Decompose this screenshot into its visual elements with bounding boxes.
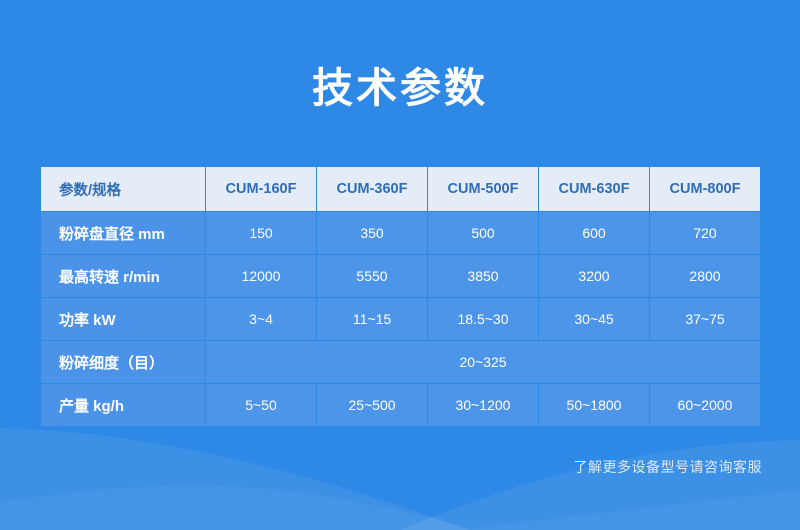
column-header-cum-800f: CUM-800F — [650, 167, 760, 211]
cell-value: 3~4 — [206, 298, 316, 340]
cell-value: 600 — [539, 212, 649, 254]
table-row: 最高转速 r/min120005550385032002800 — [41, 255, 760, 297]
cell-value: 3850 — [428, 255, 538, 297]
row-label: 功率 kW — [41, 298, 205, 340]
cell-value: 5~50 — [206, 384, 316, 426]
table-row: 粉碎盘直径 mm150350500600720 — [41, 212, 760, 254]
wave-left — [0, 428, 470, 530]
cell-value: 25~500 — [317, 384, 427, 426]
cell-value: 30~45 — [539, 298, 649, 340]
cell-value: 18.5~30 — [428, 298, 538, 340]
column-header-cum-160f: CUM-160F — [206, 167, 316, 211]
column-header-param: 参数/规格 — [41, 167, 205, 211]
row-label: 粉碎盘直径 mm — [41, 212, 205, 254]
column-header-cum-630f: CUM-630F — [539, 167, 649, 211]
cell-value: 37~75 — [650, 298, 760, 340]
row-label: 粉碎细度（目） — [41, 341, 205, 383]
cell-value: 5550 — [317, 255, 427, 297]
cell-value: 350 — [317, 212, 427, 254]
cell-value: 3200 — [539, 255, 649, 297]
cell-value: 30~1200 — [428, 384, 538, 426]
row-label: 产量 kg/h — [41, 384, 205, 426]
cell-value: 2800 — [650, 255, 760, 297]
cell-value: 60~2000 — [650, 384, 760, 426]
column-header-cum-500f: CUM-500F — [428, 167, 538, 211]
table-row: 粉碎细度（目）20~325 — [41, 341, 760, 383]
cell-value: 720 — [650, 212, 760, 254]
table-body: 粉碎盘直径 mm150350500600720最高转速 r/min1200055… — [41, 212, 760, 426]
table-header-row: 参数/规格 CUM-160F CUM-360F CUM-500F CUM-630… — [41, 167, 760, 211]
technical-parameters-page: 技术参数 参数/规格 CUM-160F CUM-360F CUM-500F CU… — [0, 0, 800, 530]
wave-bottom — [0, 485, 800, 530]
wave-right — [400, 440, 800, 530]
cell-value: 12000 — [206, 255, 316, 297]
technical-parameters-table: 参数/规格 CUM-160F CUM-360F CUM-500F CUM-630… — [40, 166, 761, 427]
row-label: 最高转速 r/min — [41, 255, 205, 297]
page-title: 技术参数 — [0, 66, 800, 111]
footer-note: 了解更多设备型号请咨询客服 — [574, 457, 763, 477]
table-row: 功率 kW3~411~1518.5~3030~4537~75 — [41, 298, 760, 340]
spec-table-container: 参数/规格 CUM-160F CUM-360F CUM-500F CUM-630… — [40, 166, 760, 427]
cell-value: 50~1800 — [539, 384, 649, 426]
cell-value: 500 — [428, 212, 538, 254]
cell-merged-value: 20~325 — [206, 341, 760, 383]
column-header-cum-360f: CUM-360F — [317, 167, 427, 211]
cell-value: 11~15 — [317, 298, 427, 340]
table-row: 产量 kg/h5~5025~50030~120050~180060~2000 — [41, 384, 760, 426]
cell-value: 150 — [206, 212, 316, 254]
